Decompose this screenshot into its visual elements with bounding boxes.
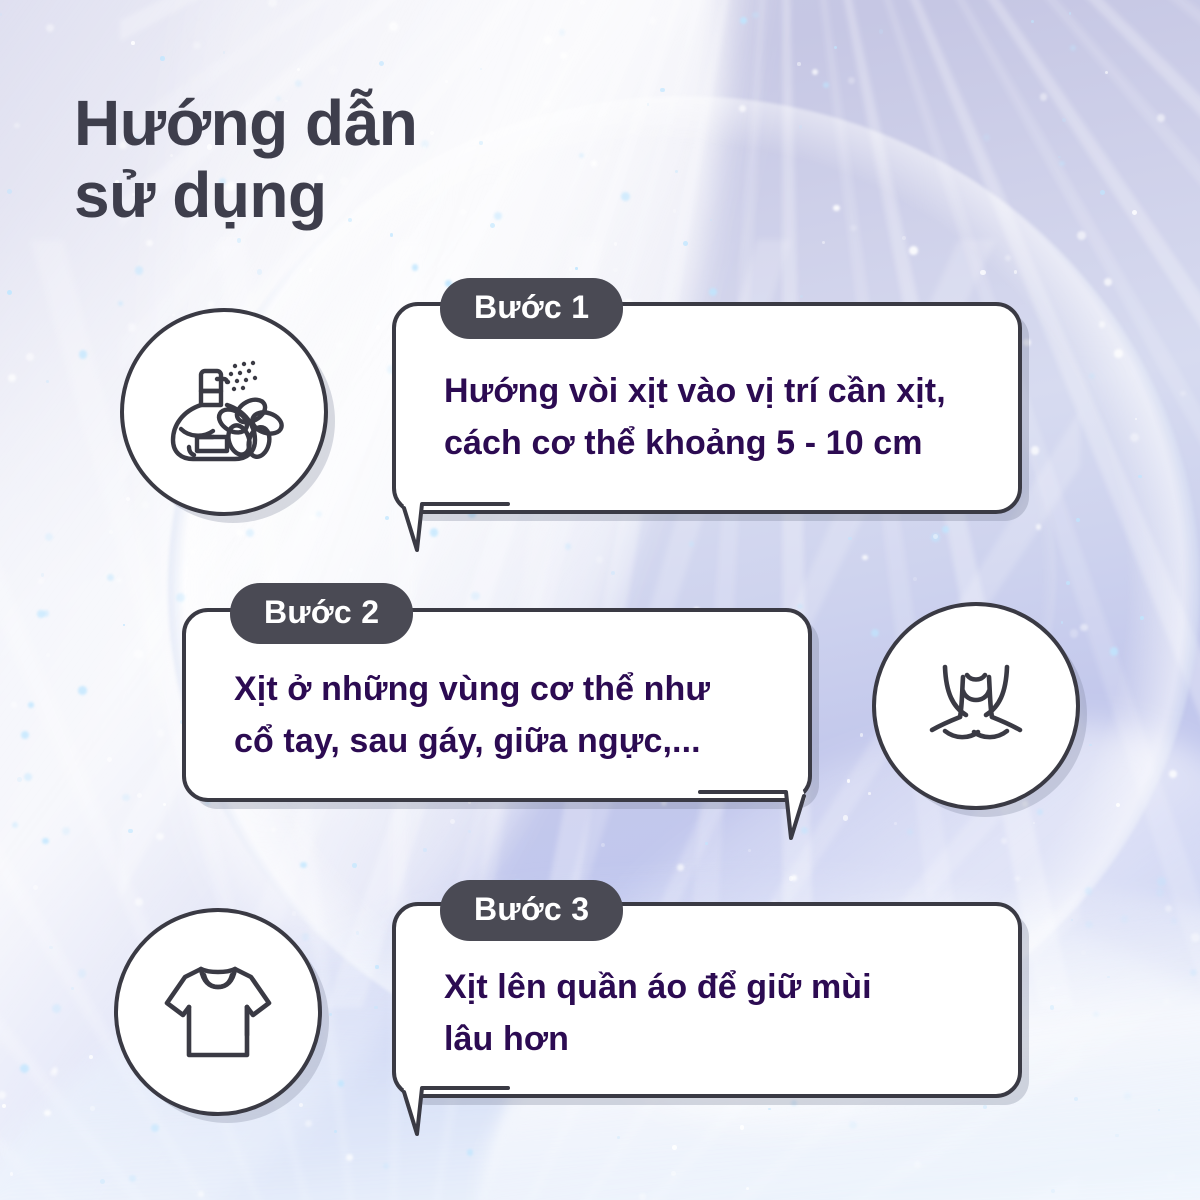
step-1-text: Hướng vòi xịt vào vị trí cần xịt, cách c…	[444, 366, 982, 469]
step-3-bubble-tail	[398, 1082, 518, 1144]
step-2-bubble-tail	[690, 786, 810, 848]
neck-collarbone-icon	[915, 645, 1037, 767]
tshirt-icon	[157, 951, 279, 1073]
step-3-icon-circle	[114, 908, 322, 1116]
step-1-bubble-tail	[398, 498, 518, 560]
perfume-spray-bottle-flower-icon	[161, 349, 287, 475]
instruction-poster: Hướng dẫn sử dụng	[0, 0, 1200, 1200]
step-2-text: Xịt ở những vùng cơ thể như cổ tay, sau …	[234, 664, 772, 767]
step-1-icon-circle	[120, 308, 328, 516]
step-1-badge: Bước 1	[440, 278, 623, 339]
step-2-icon-circle	[872, 602, 1080, 810]
step-3-text: Xịt lên quần áo để giữ mùi lâu hơn	[444, 962, 982, 1065]
step-3-badge: Bước 3	[440, 880, 623, 941]
page-title: Hướng dẫn sử dụng	[74, 88, 417, 231]
step-2-badge: Bước 2	[230, 583, 413, 644]
